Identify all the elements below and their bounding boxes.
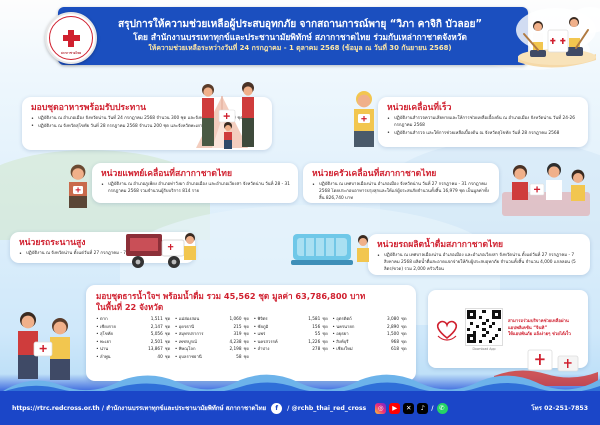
province-row: •แม่ฮ่องสอน1,060ชุด [175, 316, 251, 323]
province-row: •สุโขทัย5,056ชุด [96, 331, 172, 338]
province-name: พิจิตร [258, 316, 308, 323]
x-twitter-icon[interactable]: ✕ [403, 403, 414, 414]
province-unit: ชุด [322, 346, 329, 353]
province-name: ลำปาง [258, 346, 312, 353]
province-name: ลำพูน [100, 354, 156, 361]
tiktok-icon[interactable]: ♪ [417, 403, 428, 414]
card-mobile-medical-unit: หน่วยแพทย์เคลื่อนที่สภากาชาดไทย ปฏิบัติง… [92, 163, 298, 203]
province-row: •อุดรธานี215ชุด [175, 324, 251, 331]
page-subtitle: โดย สำนักงานบรรเทาทุกข์และประชานามัยพิทั… [133, 32, 467, 43]
province-name: อุตรดิตถ์ [336, 316, 386, 323]
province-column-3: •พิจิตร1,581ชุด •ชัยภูมิ156ชุด •แพร่55ชุ… [254, 316, 330, 361]
summary-title-line2: ในพื้นที่ 22 จังหวัด [96, 302, 408, 313]
facebook-icon[interactable]: f [271, 403, 282, 414]
infographic-page: สรุปการให้ความช่วยเหลือผู้ประสบอุทกภัย จ… [0, 0, 600, 425]
province-unit: ชุด [165, 331, 172, 338]
province-name: แพร่ [258, 331, 314, 338]
summary-title-line1: มอบชุดธารน้ำใจฯ พร้อมน้ำดื่ม รวม 45,562 … [96, 291, 408, 302]
summary-panel: มอบชุดธารน้ำใจฯ พร้อมน้ำดื่ม รวม 45,562 … [86, 285, 416, 381]
page-title: สรุปการให้ความช่วยเหลือผู้ประสบอุทกภัย จ… [118, 19, 482, 32]
province-unit: ชุด [322, 339, 329, 346]
province-row: •เชียงใหม่618ชุด [332, 346, 408, 353]
province-unit: ชุด [401, 324, 408, 331]
card-title: หน่วยแพทย์เคลื่อนที่สภากาชาดไทย [101, 169, 290, 179]
red-cross-icon [63, 30, 80, 47]
province-unit: ชุด [165, 316, 172, 323]
page-daterange: ให้ความช่วยเหลือระหว่างวันที่ 24 กรกฎาคม… [148, 43, 451, 53]
card-rapid-mobile-unit: หน่วยเคลื่อนที่เร็ว ปฏิบัติงานสำรวจความเ… [378, 97, 588, 147]
bullet-item: ปฏิบัติงานสำรวจ และให้การช่วยเหลือเบื้อง… [387, 131, 580, 138]
family-tent-illustration [178, 74, 274, 152]
province-value: 968 [390, 339, 401, 346]
card-bullets: ปฏิบัติงานสำรวจความเสียหายและให้การช่วยเ… [387, 116, 580, 137]
bullet-item: ปฏิบัติงาน ณ เทศบาลเมืองน่าน อำเภอเมือง … [377, 253, 582, 273]
heart-hands-icon [434, 316, 460, 342]
province-value: 4,238 [229, 339, 244, 346]
province-value: 2,198 [229, 346, 244, 353]
province-row: •ลำปาง278ชุด [254, 346, 330, 353]
province-row: •อุตรดิตถ์3,080ชุด [332, 316, 408, 323]
province-unit: ชุด [322, 316, 329, 323]
phone-icon[interactable]: ✆ [437, 403, 448, 414]
province-unit: ชุด [244, 316, 251, 323]
province-name: สิงห์บุรี [336, 339, 390, 346]
province-unit: ชุด [244, 339, 251, 346]
card-title: หน่วยรถผลิตน้ำดื่มสภากาชาดไทย [377, 240, 582, 250]
logo-ring: สภากาชาดไทย [49, 16, 93, 60]
province-value: 1,060 [229, 316, 244, 323]
province-value: 278 [311, 346, 322, 353]
instagram-icon[interactable]: ◎ [375, 403, 386, 414]
footer-telephone[interactable]: โทร 02-251-7853 [531, 403, 588, 413]
province-value: 1,581 [307, 316, 322, 323]
province-name: นครสวรรค์ [258, 339, 308, 346]
province-value: 55 [314, 331, 322, 338]
bullet-item: ปฏิบัติงาน ณ เทศบาลเมืองน่าน อำเภอเมือง … [312, 182, 491, 202]
bullet-item: ปฏิบัติงานสำรวจความเสียหายและให้การช่วยเ… [387, 116, 580, 129]
province-row: •สิงห์บุรี968ชุด [332, 339, 408, 346]
footer-website-url[interactable]: https://rtrc.redcross.or.th / สำนักงานบร… [12, 403, 266, 413]
province-row: •เพชรบูรณ์4,238ชุด [175, 339, 251, 346]
province-row: •น่าน13,867ชุด [96, 346, 172, 353]
youtube-icon[interactable]: ▶ [389, 403, 400, 414]
province-value: 2,890 [386, 324, 401, 331]
province-name: พิษณุโลก [179, 346, 229, 353]
volunteers-group-illustration [8, 300, 82, 380]
thai-red-cross-logo: สภากาชาดไทย [45, 12, 97, 64]
province-name: เชียงใหม่ [336, 346, 390, 353]
province-column-1: •ตาก1,511ชุด •เชียงราย2,147ชุด •สุโขทัย5… [96, 316, 172, 361]
province-name: สุโขทัย [100, 331, 150, 338]
province-name: สมุทรปราการ [179, 331, 233, 338]
province-value: 215 [233, 324, 244, 331]
province-row: •แพร่55ชุด [254, 331, 330, 338]
card-bullets: ปฏิบัติงาน ณ เทศบาลเมืองน่าน อำเภอเมือง … [312, 182, 491, 202]
province-row: •อยุธยา1,500ชุด [332, 331, 408, 338]
province-row: •นครนายก2,890ชุด [332, 324, 408, 331]
footer-separator: / [431, 405, 433, 412]
province-unit: ชุด [244, 324, 251, 331]
province-value: 40 [156, 354, 164, 361]
province-column-2: •แม่ฮ่องสอน1,060ชุด •อุดรธานี215ชุด •สมุ… [175, 316, 251, 361]
wave-divider [0, 371, 600, 393]
province-unit: ชุด [244, 331, 251, 338]
province-unit: ชุด [322, 324, 329, 331]
province-name: พะเยา [100, 339, 150, 346]
province-row: •อุบลราชธานี58ชุด [175, 354, 251, 361]
province-unit: ชุด [401, 316, 408, 323]
province-name: แม่ฮ่องสอน [179, 316, 229, 323]
province-value: 319 [233, 331, 244, 338]
province-row: •ตาก1,511ชุด [96, 316, 172, 323]
rescue-truck-illustration [120, 224, 208, 272]
card-title: หน่วยเคลื่อนที่เร็ว [387, 103, 580, 113]
card-bullets: ปฏิบัติงาน ณ อำเภอภูเพียง อำเภอท่าวังผา … [101, 182, 290, 195]
volunteer-person-illustration [342, 86, 388, 148]
province-name: ชัยภูมิ [258, 324, 312, 331]
page-header: สรุปการให้ความช่วยเหลือผู้ประสบอุทกภัย จ… [0, 0, 600, 72]
footer-social-handle[interactable]: / @rchb_thai_red_cross [287, 405, 366, 412]
province-name: อยุธยา [336, 331, 386, 338]
water-tank-illustration [285, 222, 371, 274]
province-row: •พะเยา2,501ชุด [96, 339, 172, 346]
province-unit: ชุด [401, 346, 408, 353]
province-name: อุดรธานี [179, 324, 233, 331]
province-name: นครนายก [336, 324, 386, 331]
province-name: เชียงราย [100, 324, 150, 331]
province-row: •พิจิตร1,581ชุด [254, 316, 330, 323]
social-icons-group: ◎ ▶ ✕ ♪ / ✆ [375, 403, 447, 414]
province-unit: ชุด [322, 331, 329, 338]
province-unit: ชุด [165, 324, 172, 331]
province-value: 2,501 [150, 339, 165, 346]
logo-caption: สภากาชาดไทย [50, 51, 92, 56]
province-row: •นครสวรรค์1,226ชุด [254, 339, 330, 346]
province-unit: ชุด [244, 346, 251, 353]
province-name: เพชรบูรณ์ [179, 339, 229, 346]
header-title-band: สรุปการให้ความช่วยเหลือผู้ประสบอุทกภัย จ… [58, 7, 528, 65]
province-value: 58 [235, 354, 243, 361]
province-row: •พิษณุโลก2,198ชุด [175, 346, 251, 353]
province-unit: ชุด [401, 339, 408, 346]
province-name: ตาก [100, 316, 150, 323]
province-value: 618 [390, 346, 401, 353]
bullet-item: ปฏิบัติงาน ณ อำเภอภูเพียง อำเภอท่าวังผา … [101, 182, 290, 195]
province-table: •ตาก1,511ชุด •เชียงราย2,147ชุด •สุโขทัย5… [96, 316, 408, 361]
province-value: 13,867 [147, 346, 165, 353]
doctor-illustration [58, 160, 100, 208]
card-mobile-kitchen-unit: หน่วยครัวเคลื่อนที่สภากาชาดไทย ปฏิบัติงา… [303, 163, 499, 203]
province-column-4: •อุตรดิตถ์3,080ชุด •นครนายก2,890ชุด •อยุ… [332, 316, 408, 361]
card-bullets: ปฏิบัติงาน ณ เทศบาลเมืองน่าน อำเภอเมือง … [377, 253, 582, 273]
page-footer: https://rtrc.redcross.or.th / สำนักงานบร… [0, 391, 600, 425]
province-unit: ชุด [401, 331, 408, 338]
province-value: 5,056 [150, 331, 165, 338]
province-row: •สมุทรปราการ319ชุด [175, 331, 251, 338]
province-row: •ชัยภูมิ156ชุด [254, 324, 330, 331]
kitchen-service-illustration [496, 158, 596, 218]
card-title: หน่วยครัวเคลื่อนที่สภากาชาดไทย [312, 169, 491, 179]
province-value: 1,500 [386, 331, 401, 338]
province-row: •ลำพูน40ชุด [96, 354, 172, 361]
province-value: 1,226 [307, 339, 322, 346]
province-value: 156 [311, 324, 322, 331]
province-value: 1,511 [150, 316, 165, 323]
province-row: •เชียงราย2,147ชุด [96, 324, 172, 331]
province-name: น่าน [100, 346, 147, 353]
province-name: อุบลราชธานี [179, 354, 235, 361]
province-unit: ชุด [165, 354, 172, 361]
boat-rescue-illustration [504, 0, 600, 72]
province-value: 3,080 [386, 316, 401, 323]
province-unit: ชุด [165, 339, 172, 346]
province-unit: ชุด [244, 354, 251, 361]
card-water-production-unit: หน่วยรถผลิตน้ำดื่มสภากาชาดไทย ปฏิบัติงาน… [368, 234, 590, 275]
province-value: 2,147 [150, 324, 165, 331]
province-unit: ชุด [165, 346, 172, 353]
